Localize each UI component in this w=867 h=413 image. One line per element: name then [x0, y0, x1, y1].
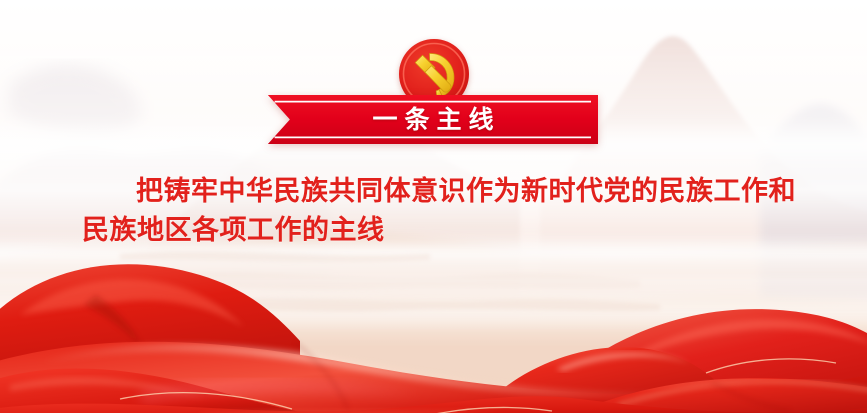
ribbon-title-text: 一条主线 [268, 95, 598, 144]
red-silk-waves-decoration [0, 223, 867, 413]
headline-text: 把铸牢中华民族共同体意识作为新时代党的民族工作和民族地区各项工作的主线 [82, 172, 798, 250]
poster-canvas: 一条主线 把铸牢中华民族共同体意识作为新时代党的民族工作和民族地区各项工作的主线 [0, 0, 867, 413]
ribbon-banner: 一条主线 [268, 95, 598, 144]
